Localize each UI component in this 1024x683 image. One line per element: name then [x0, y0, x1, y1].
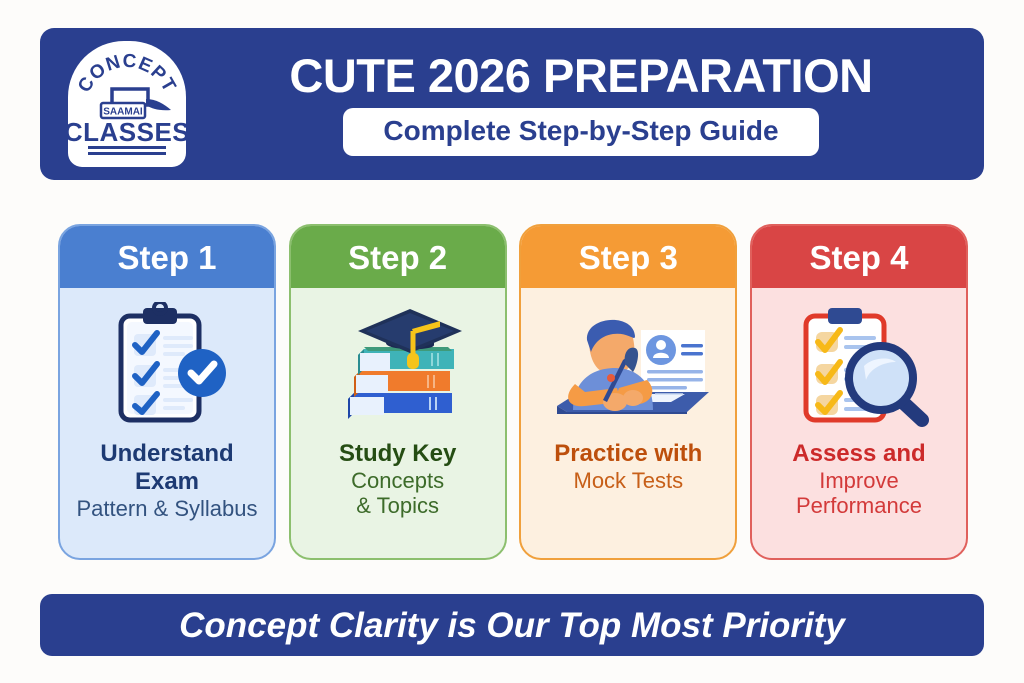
step-card-1[interactable]: Step 1 [58, 224, 276, 560]
step-3-text: Practice with Mock Tests [546, 436, 710, 493]
step-card-4[interactable]: Step 4 [750, 224, 968, 560]
step-2-line2: Concepts [339, 468, 456, 494]
footer-tagline: Concept Clarity is Our Top Most Priority [179, 608, 845, 643]
step-1-label: Step 1 [117, 241, 216, 274]
infographic-page: CONCEPT SAAMAI CLASSES CUTE 2026 PREPARA… [0, 0, 1024, 683]
step-3-label: Step 3 [579, 241, 678, 274]
step-4-body: Assess and Improve Performance [752, 288, 966, 558]
step-4-line3: Performance [792, 493, 925, 519]
footer-banner: Concept Clarity is Our Top Most Priority [40, 594, 984, 656]
step-2-line3: & Topics [339, 493, 456, 519]
step-3-body: Practice with Mock Tests [521, 288, 735, 558]
graduation-cap-books-icon [291, 296, 505, 436]
svg-text:CLASSES: CLASSES [68, 117, 186, 147]
svg-text:SAAMAI: SAAMAI [103, 107, 143, 118]
step-1-line1: Understand [77, 440, 258, 468]
step-3-line2: Mock Tests [554, 468, 702, 494]
step-2-header: Step 2 [291, 226, 505, 288]
step-1-header: Step 1 [60, 226, 274, 288]
step-card-3[interactable]: Step 3 [519, 224, 737, 560]
step-4-header: Step 4 [752, 226, 966, 288]
step-2-body: Study Key Concepts & Topics [291, 288, 505, 558]
subtitle-pill: Complete Step-by-Step Guide [343, 108, 818, 156]
step-1-line3: Pattern & Syllabus [77, 496, 258, 522]
clipboard-magnifier-icon [752, 296, 966, 436]
step-card-2[interactable]: Step 2 [289, 224, 507, 560]
step-4-line1: Assess and [792, 440, 925, 468]
brand-logo: CONCEPT SAAMAI CLASSES [68, 41, 186, 167]
step-1-line2: Exam [77, 468, 258, 496]
step-4-label: Step 4 [809, 241, 908, 274]
header-banner: CONCEPT SAAMAI CLASSES CUTE 2026 PREPARA… [40, 28, 984, 180]
step-3-header: Step 3 [521, 226, 735, 288]
steps-row: Step 1 [58, 224, 968, 560]
step-1-text: Understand Exam Pattern & Syllabus [69, 436, 266, 521]
header-text-block: CUTE 2026 PREPARATION Complete Step-by-S… [200, 28, 962, 180]
logo-artwork: CONCEPT SAAMAI CLASSES [68, 41, 186, 167]
clipboard-checklist-icon [60, 296, 274, 436]
student-writing-test-icon [521, 296, 735, 436]
step-2-label: Step 2 [348, 241, 447, 274]
step-4-text: Assess and Improve Performance [784, 436, 933, 519]
step-2-line1: Study Key [339, 440, 456, 468]
step-2-text: Study Key Concepts & Topics [331, 436, 464, 519]
step-3-line1: Practice with [554, 440, 702, 468]
page-subtitle: Complete Step-by-Step Guide [383, 115, 778, 146]
step-4-line2: Improve [792, 468, 925, 494]
page-title: CUTE 2026 PREPARATION [289, 52, 872, 99]
step-1-body: Understand Exam Pattern & Syllabus [60, 288, 274, 558]
